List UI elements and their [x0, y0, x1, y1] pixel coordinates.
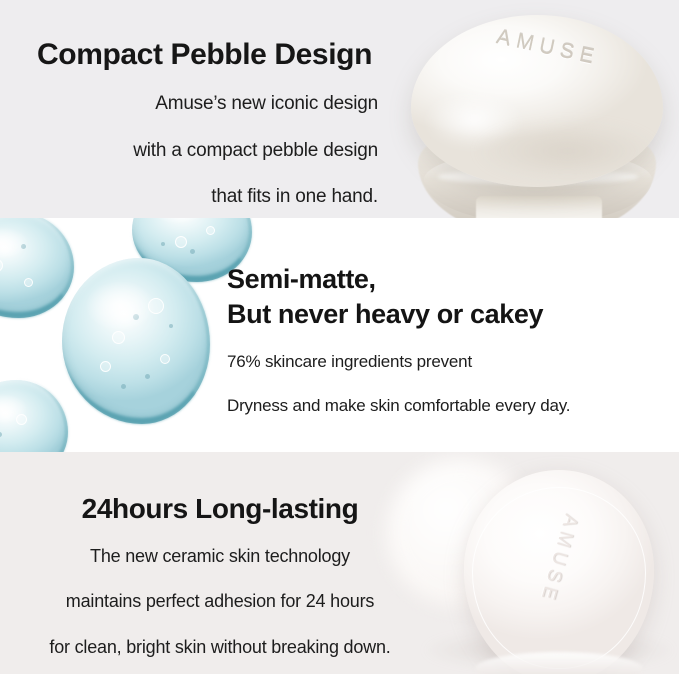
panel-semi-matte: Semi-matte, But never heavy or cakey 76%… — [0, 218, 679, 452]
panel1-heading: Compact Pebble Design — [0, 38, 380, 71]
gel-droplet-image — [0, 218, 74, 318]
gel-bubble — [175, 236, 187, 248]
gel-speck — [0, 432, 2, 437]
product-detail-page: AMUSE Compact Pebble Design Amuse’s new … — [0, 0, 679, 679]
panel1-body-line-1: Amuse’s new iconic design — [0, 90, 380, 118]
gel-bubble — [24, 278, 33, 287]
panel2-body-line-2: Dryness and make skin comfortable every … — [227, 393, 667, 419]
gel-droplet-image — [0, 380, 68, 452]
gel-bubble — [206, 226, 215, 235]
gel-bubble — [100, 361, 111, 372]
gel-droplet-image — [62, 258, 210, 424]
panel1-body-line-3: that fits in one hand. — [0, 183, 380, 211]
panel2-copy-block: Semi-matte, But never heavy or cakey 76%… — [227, 262, 667, 436]
gel-bubble — [160, 354, 170, 364]
panel2-body-line-1: 76% skincare ingredients prevent — [227, 349, 667, 375]
panel2-heading: Semi-matte, But never heavy or cakey — [227, 262, 667, 332]
gel-speck — [133, 314, 139, 320]
gel-bubble — [16, 414, 27, 425]
panel1-body-line-2: with a compact pebble design — [0, 137, 380, 165]
panel3-body-line-2: maintains perfect adhesion for 24 hours — [0, 588, 440, 615]
gel-speck — [169, 324, 173, 328]
panel-24hours-long-lasting: AMUSE 24hours Long-lasting The new ceram… — [0, 452, 679, 674]
gel-bubble — [148, 298, 164, 314]
panel3-body-line-1: The new ceramic skin technology — [0, 543, 440, 570]
gel-bubble — [0, 259, 3, 272]
gel-bubble — [112, 331, 125, 344]
panel3-copy-block: 24hours Long-lasting The new ceramic ski… — [0, 494, 440, 674]
gel-speck — [21, 244, 26, 249]
gel-speck — [145, 374, 150, 379]
panel2-heading-line-1: Semi-matte, — [227, 264, 376, 294]
compact-lower-body — [476, 196, 602, 218]
panel2-heading-line-2: But never heavy or cakey — [227, 299, 543, 329]
bottom-divider — [0, 674, 679, 679]
panel-compact-pebble-design: AMUSE Compact Pebble Design Amuse’s new … — [0, 0, 679, 218]
panel3-heading: 24hours Long-lasting — [0, 494, 440, 525]
panel3-body-line-3: for clean, bright skin without breaking … — [0, 634, 440, 661]
gel-speck — [161, 242, 165, 246]
panel1-copy-block: Compact Pebble Design Amuse’s new iconic… — [0, 38, 380, 218]
gel-speck — [190, 249, 195, 254]
gel-speck — [121, 384, 126, 389]
